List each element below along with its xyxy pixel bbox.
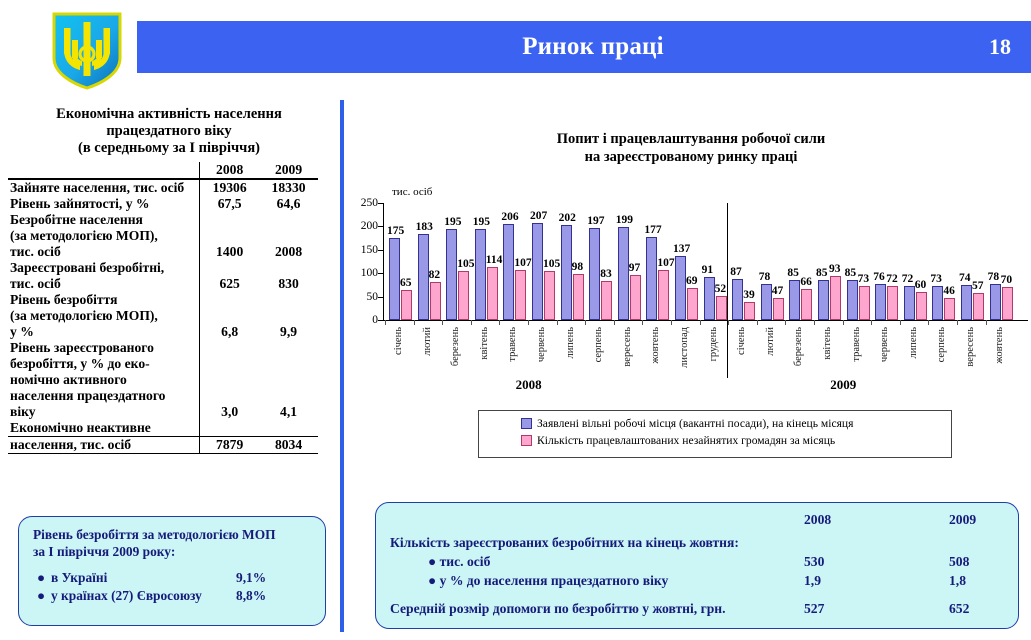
ilo-box-item-label: в Україні: [51, 570, 236, 586]
bar-placed: [658, 270, 669, 320]
bar-value-placed: 70: [1001, 274, 1013, 286]
right-box-col-2008: 2008: [804, 512, 831, 528]
bar-group: 8739січень: [731, 203, 760, 320]
bar-group: 195105березень: [445, 203, 474, 320]
table-row: у %6,89,9: [8, 324, 318, 340]
bar-placed: [544, 271, 555, 320]
table-cell-2008: 1400: [200, 244, 259, 260]
bar-value-placed: 105: [543, 258, 560, 270]
bar-group: 207105червень: [531, 203, 560, 320]
table-cell-2008: [200, 260, 259, 276]
x-axis-tick: [700, 320, 701, 325]
bar-groups: 17565січень18382лютий195105березень19511…: [384, 203, 1028, 321]
table-cell-2009: 9,9: [259, 324, 318, 340]
bar-group: 19783серпень: [588, 203, 617, 320]
bar-vacancies: [618, 227, 629, 320]
bar-value-placed: 105: [457, 258, 474, 270]
table-cell-label: (за методологією МОП),: [8, 228, 200, 244]
ilo-unemployment-box: Рівень безробіття за методологією МОП за…: [18, 516, 326, 626]
bar-placed: [687, 288, 698, 320]
bullet-icon: ●: [428, 554, 436, 569]
x-axis-month-label: червень: [536, 327, 547, 362]
x-axis-month-label: березень: [793, 327, 804, 366]
bar-group: 7346серпень: [931, 203, 960, 320]
table-cell-2009: 64,6: [259, 196, 318, 212]
bar-placed: [401, 290, 412, 320]
legend-item-vacancies: Заявлені вільні робочі місця (вакантні п…: [479, 415, 951, 432]
x-axis-month-label: грудень: [708, 327, 719, 361]
table-cell-2009: [259, 292, 318, 308]
table-cell-label: Безробітне населення: [8, 212, 200, 228]
x-axis-month-label: лютий: [422, 327, 433, 356]
legend-swatch-pink: [521, 435, 532, 446]
bar-group: 18382лютий: [417, 203, 446, 320]
bar-placed: [801, 289, 812, 320]
table-cell-2009: 2008: [259, 244, 318, 260]
bar-placed: [887, 286, 898, 320]
x-axis-tick: [671, 320, 672, 325]
table-cell-2009: [259, 212, 318, 228]
x-axis-month-label: жовтень: [994, 327, 1005, 364]
bar-placed: [458, 271, 469, 320]
table-cell-2009: [259, 388, 318, 404]
table-cell-label: тис. осіб: [8, 244, 200, 260]
bar-value-vacancies: 78: [759, 271, 771, 283]
bar-group: 20298липень: [560, 203, 589, 320]
table-cell-2008: [200, 340, 259, 356]
bar-group: 7870жовтень: [989, 203, 1018, 320]
table-row: безробіття, у % до еко-: [8, 356, 318, 372]
bar-vacancies: [646, 237, 657, 320]
legend-swatch-blue: [521, 418, 532, 429]
x-axis-month-label: березень: [450, 327, 461, 366]
x-axis-tick: [642, 320, 643, 325]
bullet-icon: ●: [428, 573, 436, 588]
table-cell-2008: [200, 356, 259, 372]
bar-value-vacancies: 177: [644, 224, 661, 236]
ilo-box-item-label: у країнах (27) Євросоюзу: [51, 588, 236, 604]
bar-value-placed: 72: [886, 273, 898, 285]
bar-placed: [744, 302, 755, 320]
x-axis-tick: [585, 320, 586, 325]
bar-value-placed: 57: [972, 280, 984, 292]
table-row: номічно активного: [8, 372, 318, 388]
bar-placed: [916, 292, 927, 320]
bar-value-placed: 73: [858, 273, 870, 285]
table-cell-label: населення, тис. осіб: [8, 437, 200, 454]
bar-group: 13769листопад: [674, 203, 703, 320]
bar-vacancies: [761, 284, 772, 321]
bar-group: 7847лютий: [760, 203, 789, 320]
bar-value-vacancies: 195: [473, 216, 490, 228]
table-cell-2009: 18330: [259, 179, 318, 196]
bar-value-vacancies: 91: [702, 264, 714, 276]
table-row: Рівень зайнятості, у %67,564,6: [8, 196, 318, 212]
bar-vacancies: [418, 234, 429, 320]
bar-value-vacancies: 78: [988, 271, 1000, 283]
left-table-title-line1: Економічна активність населення: [14, 106, 324, 123]
y-axis-tick-label: 200: [361, 221, 378, 231]
right-box-item-2009: 1,8: [949, 573, 966, 589]
x-axis-tick: [471, 320, 472, 325]
bar-group: 8573травень: [846, 203, 875, 320]
bar-chart: 050100150200250 17565січень18382лютий195…: [350, 203, 1028, 393]
bar-value-placed: 83: [600, 268, 612, 280]
bar-vacancies: [932, 286, 943, 320]
bar-group: 8566березень: [788, 203, 817, 320]
table-cell-label: Рівень безробіття: [8, 292, 200, 308]
table-row: Рівень безробіття: [8, 292, 318, 308]
x-axis-tick: [900, 320, 901, 325]
bar-value-vacancies: 85: [816, 267, 828, 279]
table-cell-2008: [200, 308, 259, 324]
x-axis-tick: [499, 320, 500, 325]
bar-vacancies: [732, 279, 743, 320]
bar-group: 17565січень: [388, 203, 417, 320]
table-row: населення працездатного: [8, 388, 318, 404]
bar-value-vacancies: 74: [959, 272, 971, 284]
left-table-title-line2: працездатного віку: [14, 123, 324, 140]
bar-value-vacancies: 85: [787, 267, 799, 279]
bar-value-vacancies: 72: [902, 273, 914, 285]
bar-value-vacancies: 87: [730, 266, 742, 278]
bar-placed: [973, 293, 984, 320]
bar-value-placed: 52: [715, 283, 727, 295]
legend-label-vacancies: Заявлені вільні робочі місця (вакантні п…: [537, 417, 853, 430]
bar-group: 177107жовтень: [645, 203, 674, 320]
x-axis-month-label: вересень: [965, 327, 976, 367]
bar-placed: [487, 267, 498, 320]
bar-value-placed: 60: [915, 279, 927, 291]
legend-item-placed: Кількість працевлаштованих незайнятих гр…: [479, 432, 951, 449]
bar-placed: [601, 281, 612, 320]
x-axis-tick: [614, 320, 615, 325]
ukraine-coat-of-arms-icon: [48, 10, 126, 90]
registered-unemployed-box: 2008 2009 Кількість зареєстрованих безро…: [375, 502, 1019, 629]
x-axis-month-label: липень: [908, 327, 919, 359]
x-axis-year-label: 2008: [516, 377, 542, 393]
x-axis-tick: [442, 320, 443, 325]
y-axis-labels: 050100150200250: [350, 203, 378, 321]
table-row: Економічно неактивне: [8, 420, 318, 437]
table-header-blank: [8, 162, 200, 179]
chart-title-line1: Попит і працевлаштування робочої сили: [356, 130, 1026, 148]
bar-value-vacancies: 85: [845, 267, 857, 279]
table-cell-label: Економічно неактивне: [8, 420, 200, 437]
bar-vacancies: [561, 225, 572, 320]
table-row: Безробітне населення: [8, 212, 318, 228]
x-axis-tick: [385, 320, 386, 325]
right-box-item-2008: 1,9: [804, 573, 821, 589]
year-separator: [727, 203, 728, 378]
ilo-box-heading: Рівень безробіття за методологією МОП за…: [19, 517, 325, 560]
panel-divider: [340, 100, 344, 632]
bar-value-placed: 66: [800, 276, 812, 288]
right-box-item-2008: 530: [804, 554, 824, 570]
x-axis-month-label: серпень: [936, 327, 947, 362]
ilo-box-item: ●в Україні9,1%: [19, 568, 325, 586]
y-axis-tick-label: 250: [361, 198, 378, 208]
x-axis-month-label: січень: [736, 327, 747, 355]
right-box-item-label: ● у % до населення працездатного віку: [390, 573, 668, 589]
x-axis-month-label: жовтень: [650, 327, 661, 364]
table-row: (за методологією МОП),: [8, 228, 318, 244]
bar-value-vacancies: 197: [587, 215, 604, 227]
slide-header: Ринок праці 18: [0, 0, 1031, 92]
x-axis-tick: [814, 320, 815, 325]
bar-value-placed: 69: [686, 275, 698, 287]
bar-value-vacancies: 183: [416, 221, 433, 233]
table-cell-2009: [259, 260, 318, 276]
x-axis-month-label: червень: [879, 327, 890, 362]
ilo-box-item-value: 9,1%: [236, 570, 266, 586]
bar-vacancies: [961, 285, 972, 320]
left-table-title: Економічна активність населення працезда…: [0, 100, 338, 162]
right-box-col-2009: 2009: [949, 512, 976, 528]
table-cell-2008: [200, 228, 259, 244]
bar-value-vacancies: 206: [501, 211, 518, 223]
bar-value-vacancies: 137: [673, 243, 690, 255]
table-cell-2009: [259, 228, 318, 244]
right-box-item-label: ● тис. осіб: [390, 554, 490, 570]
x-axis-tick: [871, 320, 872, 325]
bar-placed: [830, 276, 841, 320]
table-cell-2008: 19306: [200, 179, 259, 196]
bar-vacancies: [847, 280, 858, 320]
table-cell-label: населення працездатного: [8, 388, 200, 404]
bullet-icon: ●: [37, 570, 51, 586]
x-axis-month-label: квітень: [822, 327, 833, 360]
x-axis-tick: [785, 320, 786, 325]
table-row: населення, тис. осіб78798034: [8, 437, 318, 454]
bar-value-vacancies: 202: [559, 212, 576, 224]
table-row: тис. осіб625830: [8, 276, 318, 292]
bar-vacancies: [475, 229, 486, 320]
bar-vacancies: [675, 256, 686, 320]
x-axis-month-label: лютий: [765, 327, 776, 356]
x-axis-month-label: квітень: [479, 327, 490, 360]
table-cell-label: номічно активного: [8, 372, 200, 388]
bar-vacancies: [389, 238, 400, 320]
table-cell-2008: 625: [200, 276, 259, 292]
bar-placed: [773, 298, 784, 320]
bar-vacancies: [503, 224, 514, 320]
table-row: Зареєстровані безробітні,: [8, 260, 318, 276]
table-cell-2009: [259, 340, 318, 356]
bar-value-placed: 47: [772, 285, 784, 297]
table-cell-label: віку: [8, 404, 200, 420]
right-box-footer-2009: 652: [949, 601, 969, 617]
bar-value-vacancies: 207: [530, 210, 547, 222]
title-banner: Ринок праці 18: [137, 21, 1031, 73]
chart-title-line2: на зареєстрованому ринку праці: [356, 148, 1026, 166]
bar-placed: [515, 270, 526, 320]
x-axis-month-label: серпень: [593, 327, 604, 362]
x-axis-tick: [986, 320, 987, 325]
bar-vacancies: [990, 284, 1001, 321]
bar-value-vacancies: 199: [616, 214, 633, 226]
right-box-footer-label: Середній розмір допомоги по безробіттю у…: [390, 601, 726, 617]
bar-group: 7672червень: [874, 203, 903, 320]
bar-vacancies: [818, 280, 829, 320]
bar-placed: [430, 282, 441, 320]
bar-vacancies: [904, 286, 915, 320]
x-axis-month-label: травень: [507, 327, 518, 362]
table-cell-label: Зайняте населення, тис. осіб: [8, 179, 200, 196]
table-row: віку3,04,1: [8, 404, 318, 420]
left-table-title-line3: (в середньому за I півріччя): [14, 140, 324, 157]
y-axis-tick-label: 150: [361, 245, 378, 255]
bar-placed: [630, 275, 641, 320]
table-cell-2008: 67,5: [200, 196, 259, 212]
bar-group: 7457вересень: [960, 203, 989, 320]
table-cell-label: Рівень зареєстрованого: [8, 340, 200, 356]
left-panel: Економічна активність населення працезда…: [0, 100, 338, 454]
table-cell-2008: 6,8: [200, 324, 259, 340]
bar-value-placed: 107: [657, 257, 674, 269]
x-axis-month-label: вересень: [622, 327, 633, 367]
chart-title: Попит і працевлаштування робочої сили на…: [356, 130, 1026, 166]
ilo-box-item-value: 8,8%: [236, 588, 266, 604]
table-cell-2008: 7879: [200, 437, 259, 454]
chart-legend: Заявлені вільні робочі місця (вакантні п…: [478, 410, 952, 458]
bar-group: 19997вересень: [617, 203, 646, 320]
ilo-box-item: ●у країнах (27) Євросоюзу8,8%: [19, 586, 325, 604]
page-title: Ринок праці: [137, 33, 989, 61]
ilo-box-heading-line1: Рівень безробіття за методологією МОП: [33, 526, 325, 543]
x-axis-tick: [843, 320, 844, 325]
bar-value-placed: 107: [514, 257, 531, 269]
bullet-icon: ●: [37, 588, 51, 604]
x-axis-tick: [928, 320, 929, 325]
page-number: 18: [989, 34, 1031, 60]
bar-placed: [1002, 287, 1013, 320]
table-header-2009: 2009: [259, 162, 318, 179]
bar-value-placed: 39: [743, 289, 755, 301]
table-cell-2009: 830: [259, 276, 318, 292]
table-cell-2008: 3,0: [200, 404, 259, 420]
table-header-2008: 2008: [200, 162, 259, 179]
table-cell-2009: [259, 372, 318, 388]
bar-placed: [859, 286, 870, 320]
bar-vacancies: [704, 277, 715, 320]
bar-vacancies: [875, 284, 886, 320]
bar-value-placed: 97: [629, 262, 641, 274]
table-cell-2009: [259, 308, 318, 324]
table-cell-2008: [200, 212, 259, 228]
bar-group: 8593квітень: [817, 203, 846, 320]
x-axis-month-label: листопад: [679, 327, 690, 368]
table-row: тис. осіб14002008: [8, 244, 318, 260]
y-axis-tick-label: 100: [361, 268, 378, 278]
x-axis-tick: [757, 320, 758, 325]
economic-activity-table: 20082009Зайняте населення, тис. осіб1930…: [8, 162, 318, 454]
right-box-item-2009: 508: [949, 554, 969, 570]
table-cell-label: (за методологією МОП),: [8, 308, 200, 324]
bar-placed: [716, 296, 727, 320]
bar-value-placed: 114: [486, 254, 503, 266]
table-row: Рівень зареєстрованого: [8, 340, 318, 356]
x-axis-month-label: січень: [393, 327, 404, 355]
bar-value-vacancies: 175: [387, 225, 404, 237]
table-cell-2008: [200, 292, 259, 308]
x-axis-year-label: 2009: [830, 377, 856, 393]
bar-value-vacancies: 195: [444, 216, 461, 228]
bar-value-vacancies: 76: [873, 271, 885, 283]
table-cell-label: безробіття, у % до еко-: [8, 356, 200, 372]
bar-vacancies: [589, 228, 600, 320]
bar-group: 195114квітень: [474, 203, 503, 320]
bar-value-placed: 46: [943, 285, 955, 297]
legend-label-placed: Кількість працевлаштованих незайнятих гр…: [537, 434, 835, 447]
x-axis-tick: [414, 320, 415, 325]
right-box-footer-2008: 527: [804, 601, 824, 617]
y-axis-unit-label: тис. осіб: [392, 186, 432, 198]
x-axis-tick: [528, 320, 529, 325]
table-header-row: 20082009: [8, 162, 318, 179]
x-axis-month-label: травень: [851, 327, 862, 362]
table-cell-label: у %: [8, 324, 200, 340]
table-row: Зайняте населення, тис. осіб1930618330: [8, 179, 318, 196]
y-axis-tick-label: 50: [367, 292, 379, 302]
table-cell-2008: [200, 420, 259, 437]
bar-value-placed: 65: [400, 277, 412, 289]
x-axis-tick: [557, 320, 558, 325]
table-cell-2009: [259, 420, 318, 437]
bar-vacancies: [532, 223, 543, 320]
bar-value-placed: 98: [572, 261, 584, 273]
table-cell-2008: [200, 388, 259, 404]
bar-vacancies: [789, 280, 800, 320]
x-axis-tick: [957, 320, 958, 325]
x-axis-month-label: липень: [565, 327, 576, 359]
bar-value-vacancies: 73: [930, 273, 942, 285]
table-cell-label: тис. осіб: [8, 276, 200, 292]
right-box-line1: Кількість зареєстрованих безробітних на …: [390, 535, 739, 551]
bar-value-placed: 93: [829, 263, 841, 275]
table-cell-label: Зареєстровані безробітні,: [8, 260, 200, 276]
table-cell-2009: 4,1: [259, 404, 318, 420]
table-row: (за методологією МОП),: [8, 308, 318, 324]
table-cell-2009: 8034: [259, 437, 318, 454]
bar-value-placed: 82: [429, 269, 441, 281]
bar-vacancies: [446, 229, 457, 320]
table-cell-label: Рівень зайнятості, у %: [8, 196, 200, 212]
ilo-box-heading-line2: за I півріччя 2009 року:: [33, 543, 325, 560]
table-cell-2008: [200, 372, 259, 388]
bar-group: 206107травень: [502, 203, 531, 320]
table-cell-2009: [259, 356, 318, 372]
bar-placed: [944, 298, 955, 320]
bar-group: 7260липень: [903, 203, 932, 320]
bar-placed: [573, 274, 584, 320]
